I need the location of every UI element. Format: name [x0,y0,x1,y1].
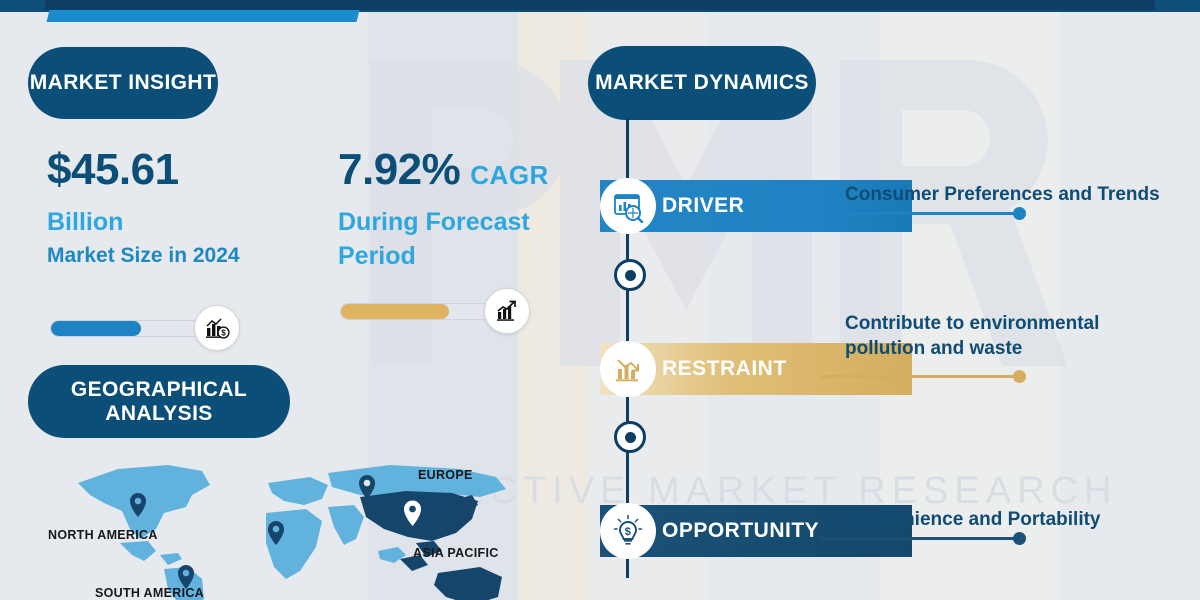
market-insight-pill: MARKET INSIGHT [28,47,218,119]
bar-chart-dollar-icon: $ [194,305,240,351]
cagr-label: CAGR [470,160,549,191]
cagr-forecast-line2: Period [338,240,588,272]
dynamics-description-driver: Consumer Preferences and Trends [845,183,1200,208]
cagr-kpi: 7.92% CAGR During Forecast Period [338,148,588,272]
progress-track [50,320,202,337]
svg-text:$: $ [221,328,226,337]
declining-chart-icon [600,341,656,397]
dynamics-label-opportunity: OPPORTUNITY [662,519,819,543]
lightbulb-dollar-icon: $ [600,503,656,559]
market-size-caption: Market Size in 2024 [47,244,347,268]
dynamics-label-restraint: RESTRAINT [662,357,787,381]
top-bar-dark [45,0,1155,10]
dashboard-magnifier-icon [600,178,656,234]
geographical-analysis-pill: GEOGRAPHICAL ANALYSIS [28,365,290,438]
map-label-europe: EUROPE [418,468,473,482]
progress-fill [51,321,141,336]
top-bar-accent [47,10,360,22]
market-size-progress[interactable]: $ [50,305,240,351]
progress-fill [341,304,449,319]
growth-chart-arrow-icon [484,288,530,334]
cagr-value: 7.92% [338,148,460,192]
connector-dot-driver [1013,207,1026,220]
dynamics-description-restraint: Contribute to environmental pollution an… [845,312,1165,361]
connector-dot-opportunity [1013,532,1026,545]
map-label-asia-pacific: ASIA PACIFIC [413,546,499,560]
market-dynamics-pill: MARKET DYNAMICS [588,46,816,120]
connector-line-driver [820,212,1020,215]
market-size-value: $45.61 [47,148,347,192]
market-size-unit: Billion [47,206,347,238]
infographic-canvas: OSPECTIVE MARKET RESEARCH MARKET INSIGHT… [0,0,1200,600]
cagr-progress[interactable] [340,288,530,334]
timeline-node [614,421,646,453]
timeline-node [614,259,646,291]
dynamics-description-opportunity: Convenience and Portability [845,508,1185,533]
progress-track [340,303,492,320]
svg-text:$: $ [625,526,632,538]
connector-line-restraint [820,375,1020,378]
market-size-kpi: $45.61 Billion Market Size in 2024 [47,148,347,268]
connector-dot-restraint [1013,370,1026,383]
map-label-south-america: SOUTH AMERICA [95,586,204,600]
connector-line-opportunity [820,537,1020,540]
cagr-forecast-line1: During Forecast [338,206,588,238]
map-label-north-america: NORTH AMERICA [48,528,158,542]
dynamics-label-driver: DRIVER [662,194,744,218]
